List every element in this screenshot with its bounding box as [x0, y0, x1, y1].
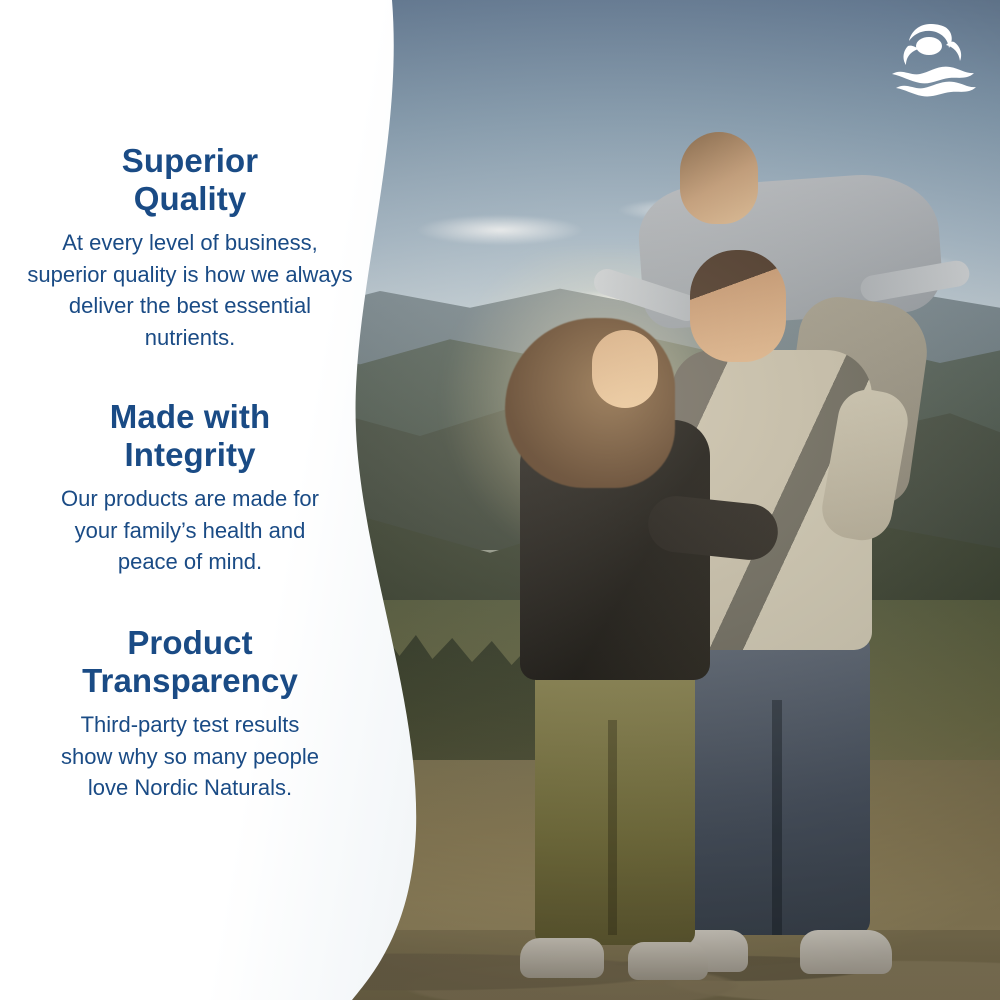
value-body: Third-party test results show why so man…: [0, 709, 380, 803]
value-body: At every level of business, superior qua…: [0, 227, 380, 353]
man-jeans-seam: [772, 700, 782, 935]
value-heading-line-2: Transparency: [82, 662, 298, 699]
value-heading-line-1: Product: [127, 624, 252, 661]
value-heading: Product Transparency: [0, 624, 380, 699]
value-heading-line-1: Made with: [110, 398, 270, 435]
woman-face: [592, 330, 658, 408]
value-block-product-transparency: Product Transparency Third-party test re…: [0, 624, 380, 804]
value-body: Our products are made for your family’s …: [0, 483, 380, 577]
panel-content: Superior Quality At every level of busin…: [0, 0, 380, 1000]
man-right-shoe: [800, 930, 892, 974]
value-heading-line-2: Quality: [134, 180, 247, 217]
value-heading: Made with Integrity: [0, 398, 380, 473]
woman-right-shoe: [628, 942, 708, 980]
sun-wave-logo-icon: [892, 24, 976, 96]
value-heading-line-1: Superior: [122, 142, 259, 179]
woman-left-shoe: [520, 938, 604, 978]
woman-pants-seam: [608, 720, 617, 935]
value-block-made-with-integrity: Made with Integrity Our products are mad…: [0, 398, 380, 578]
child-head: [680, 132, 758, 224]
value-heading-line-2: Integrity: [124, 436, 255, 473]
value-heading: Superior Quality: [0, 142, 380, 217]
value-block-superior-quality: Superior Quality At every level of busin…: [0, 142, 380, 353]
promo-graphic: Superior Quality At every level of busin…: [0, 0, 1000, 1000]
man-head: [690, 250, 786, 362]
brand-logo: [884, 18, 980, 100]
